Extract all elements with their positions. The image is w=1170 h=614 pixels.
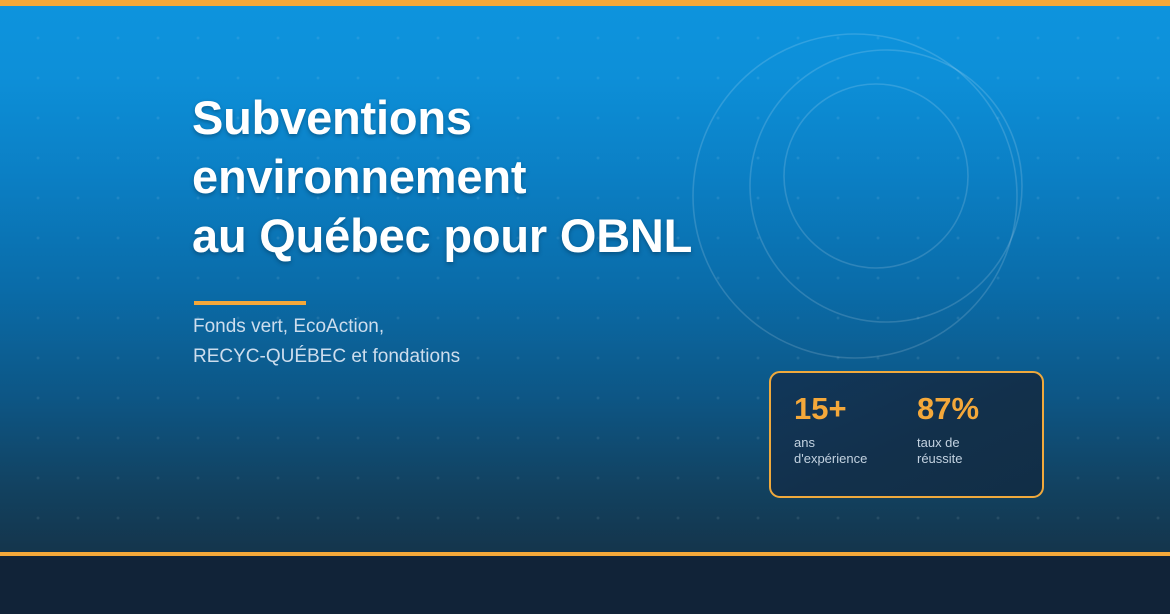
ring-small-circle (784, 84, 968, 268)
stat-label-experience-line-1: ans (794, 435, 917, 451)
page-subtitle-line-2: RECYC-QUÉBEC et fondations (193, 342, 663, 372)
stat-item-success-rate: 87% taux de réussite (917, 392, 1040, 496)
page-title-line-1: Subventions (192, 88, 752, 147)
top-accent-bar (0, 0, 1170, 6)
page-subtitle: Fonds vert, EcoAction, RECYC-QUÉBEC et f… (193, 312, 663, 372)
stat-label-experience-line-2: d'expérience (794, 451, 917, 467)
stats-card: 15+ ans d'expérience 87% taux de réussit… (769, 371, 1044, 498)
ring-medium-circle (750, 50, 1022, 322)
title-accent-rule (194, 301, 306, 305)
page-title-line-2: environnement (192, 147, 752, 206)
page-subtitle-line-1: Fonds vert, EcoAction, (193, 312, 663, 342)
page-title-line-3: au Québec pour OBNL (192, 206, 752, 265)
stat-label-success-rate-line-2: réussite (917, 451, 1040, 467)
footer-accent-rule (0, 552, 1170, 556)
hero-banner: Subventions environnement au Québec pour… (0, 0, 1170, 614)
stat-label-experience: ans d'expérience (794, 435, 917, 467)
stat-item-experience: 15+ ans d'expérience (794, 392, 917, 496)
stat-value-experience: 15+ (794, 392, 917, 426)
stat-label-success-rate-line-1: taux de (917, 435, 1040, 451)
footer-bar (0, 556, 1170, 614)
stat-value-success-rate: 87% (917, 392, 1040, 426)
page-title: Subventions environnement au Québec pour… (192, 88, 752, 265)
stat-label-success-rate: taux de réussite (917, 435, 1040, 467)
